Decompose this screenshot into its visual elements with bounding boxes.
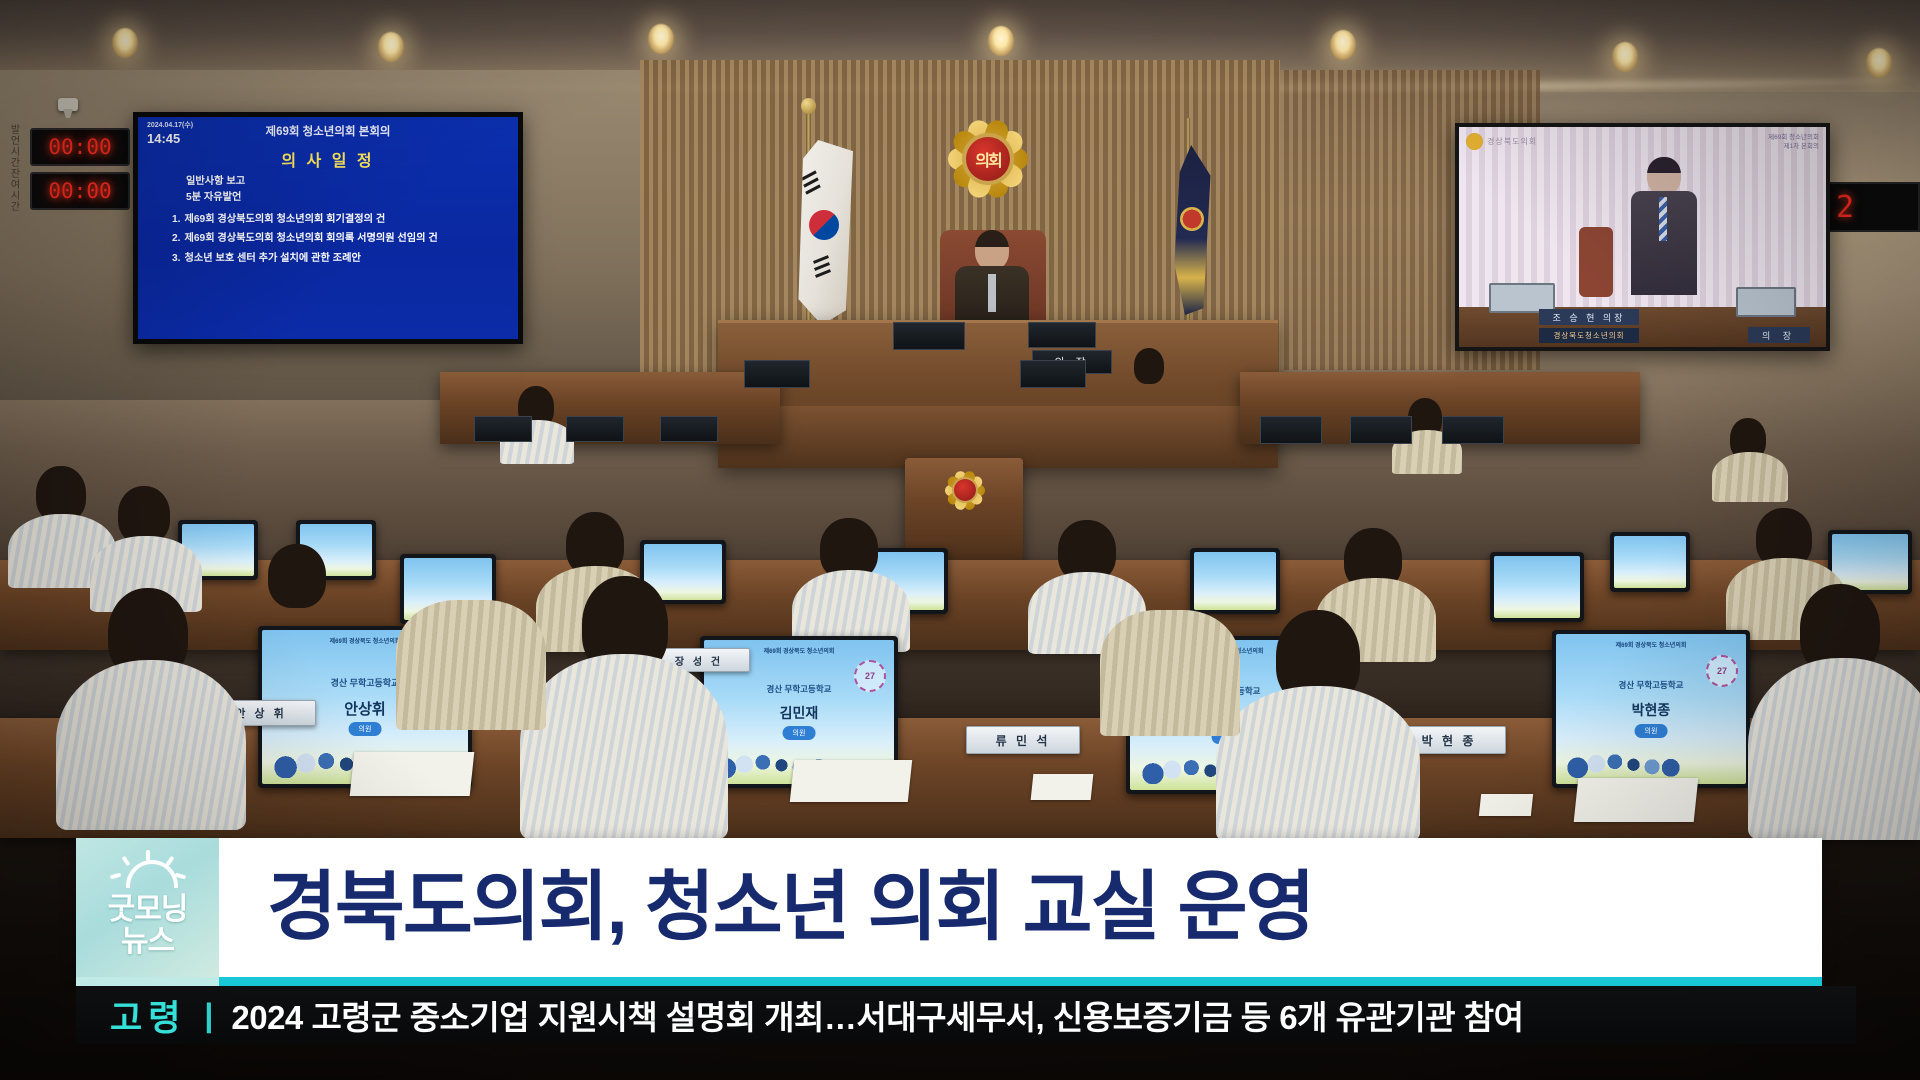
paper-document: [350, 752, 475, 796]
student-body: [520, 654, 728, 840]
monitor-org-nameplate: 경상북도청소년의회: [1539, 328, 1639, 343]
staff-body: [1712, 452, 1788, 502]
ceiling-spotlight: [378, 32, 404, 62]
agenda-item-text: 제69회 경상북도의회 청소년의회 회의록 서명의원 선임의 건: [185, 231, 438, 247]
speaking-time-clock: 00:00: [30, 128, 130, 166]
agenda-plain-item: 일반사항 보고: [186, 174, 508, 190]
agenda-heading: 의 사 일 정: [138, 147, 518, 171]
remaining-time-clock: 00:00: [30, 172, 130, 210]
monitor-speaker-figure: [1631, 157, 1697, 295]
agenda-item-text: 제69회 경상북도의회 청소년의회 회기결정의 건: [185, 212, 386, 228]
monitor-podium-screen: [1736, 287, 1796, 317]
desk-monitor: [566, 416, 624, 442]
wall-monitor-logo-label: 경상북도의회: [1487, 136, 1537, 147]
news-ticker: 고령 | 2024 고령군 중소기업 지원시책 설명회 개최…서대구세무서, 신…: [76, 986, 1856, 1044]
accent-underline: [76, 977, 1822, 986]
student-body: [1100, 610, 1240, 736]
remaining-time-label: 잔여시간: [6, 168, 21, 212]
monitor-chair: [1579, 227, 1613, 297]
broadcast-frame: 의회 의 장: [0, 0, 1920, 1080]
desk-monitor: [1442, 416, 1504, 444]
desk-monitor: [1350, 416, 1412, 444]
ceiling-spotlight: [648, 24, 674, 54]
clock-value: 00:00: [48, 179, 111, 203]
lower-third-banner: 굿모닝 뉴스 경북도의회, 청소년 의회 교실 운영: [76, 838, 1822, 977]
staff-head: [1134, 348, 1164, 384]
ticker-text: 2024 고령군 중소기업 지원시책 설명회 개최…서대구세무서, 신용보증기금…: [231, 991, 1523, 1039]
desk-monitor: [744, 360, 810, 388]
agenda-projection-screen: 2024.04.17(수) 14:45 제69회 청소년의회 본회의 의 사 일…: [133, 112, 523, 344]
student-head: [268, 544, 326, 608]
agenda-session-title: 제69회 청소년의회 본회의: [138, 123, 518, 139]
wall-monitor-corner-caption: 제69회 청소년의회 제1차 본회의: [1768, 133, 1819, 151]
sunrise-logo-icon: 굿모닝 뉴스: [94, 856, 202, 960]
student-body: [1216, 686, 1420, 842]
agenda-item-number: 3.: [172, 251, 181, 267]
broadcast-logo-icon: [1466, 133, 1483, 150]
rostrum-monitor: [893, 322, 965, 350]
desk-monitor: [1260, 416, 1322, 444]
right-led-display: 2: [1824, 182, 1920, 232]
desk-monitor-small: [1610, 532, 1690, 592]
ceiling-spotlight: [112, 28, 138, 58]
lectern-emblem-icon: [944, 470, 986, 510]
rostrum-monitor: [1028, 322, 1096, 348]
monitor-speaker-nameplate: 조 승 현 의장: [1539, 309, 1639, 325]
monitor-name: 박현종: [1556, 700, 1746, 720]
desk-monitor: [660, 416, 718, 442]
agenda-numbered-item: 3. 청소년 보호 센터 추가 설치에 관한 조례안: [172, 251, 508, 267]
paper-document: [1574, 778, 1699, 822]
agenda-item-number: 1.: [172, 212, 181, 228]
emblem-text: 의회: [966, 137, 1010, 181]
korean-national-flag: [795, 140, 853, 325]
paper-document: [1479, 794, 1533, 816]
desk-monitor: [474, 416, 532, 442]
agenda-numbered-item: 2. 제69회 경상북도의회 청소년의회 회의록 서명의원 선임의 건: [172, 231, 508, 247]
desk-monitor: [1020, 360, 1086, 388]
ceiling-spotlight: [988, 26, 1014, 56]
program-logo: 굿모닝 뉴스: [76, 838, 219, 977]
assembly-emblem-icon: 의회: [945, 118, 1031, 200]
agenda-item-number: 2.: [172, 231, 181, 247]
student-body: [396, 600, 546, 730]
headline-text: 경북도의회, 청소년 의회 교실 운영: [267, 870, 1313, 946]
ceiling-spotlight: [1330, 30, 1356, 60]
program-logo-line-2: 뉴스: [94, 916, 202, 960]
desk-monitor-small: [1490, 552, 1584, 622]
monitor-school: 경산 무학고등학교: [1556, 679, 1746, 691]
ticker-region-label: 고령: [110, 990, 186, 1041]
agenda-numbered-item: 1. 제69회 경상북도의회 청소년의회 회기결정의 건: [172, 212, 508, 228]
clock-value: 00:00: [48, 135, 111, 159]
desk-monitor-small: [1190, 548, 1280, 614]
corner-line-1: 제69회 청소년의회: [1768, 133, 1819, 142]
student-body: [1748, 658, 1920, 840]
paper-document: [790, 760, 912, 802]
monitor-header: 제69회 경상북도 청소년의회: [1556, 640, 1746, 649]
speaking-time-label: 발언시간: [6, 124, 21, 168]
student-monitor: 제69회 경상북도 청소년의회 27 경산 무학고등학교 박현종 의원: [1552, 630, 1750, 788]
student-body: [56, 660, 246, 830]
ticker-separator: |: [204, 997, 213, 1034]
monitor-school: 경산 무학고등학교: [704, 683, 894, 695]
wall-monitor: 경상북도의회 제69회 청소년의회 제1차 본회의 조 승 현 의장 경상북도청…: [1455, 123, 1830, 351]
ceiling-spotlight: [1612, 42, 1638, 72]
agenda-plain-item: 5분 자유발언: [186, 190, 508, 206]
rostrum: [718, 320, 1278, 468]
ceiling-camera: [58, 98, 78, 111]
corner-line-2: 제1차 본회의: [1768, 142, 1819, 151]
monitor-seat-label: 의 장: [1748, 327, 1810, 343]
agenda-item-text: 청소년 보호 센터 추가 설치에 관한 조례안: [185, 251, 361, 267]
headline-container: 경북도의회, 청소년 의회 교실 운영: [219, 838, 1822, 977]
ceiling-spotlight: [1866, 48, 1892, 78]
monitor-name: 김민재: [704, 703, 894, 723]
right-led-value: 2: [1836, 190, 1854, 225]
paper-document: [1031, 774, 1094, 800]
student-nameplate: 류 민 석: [966, 726, 1080, 754]
